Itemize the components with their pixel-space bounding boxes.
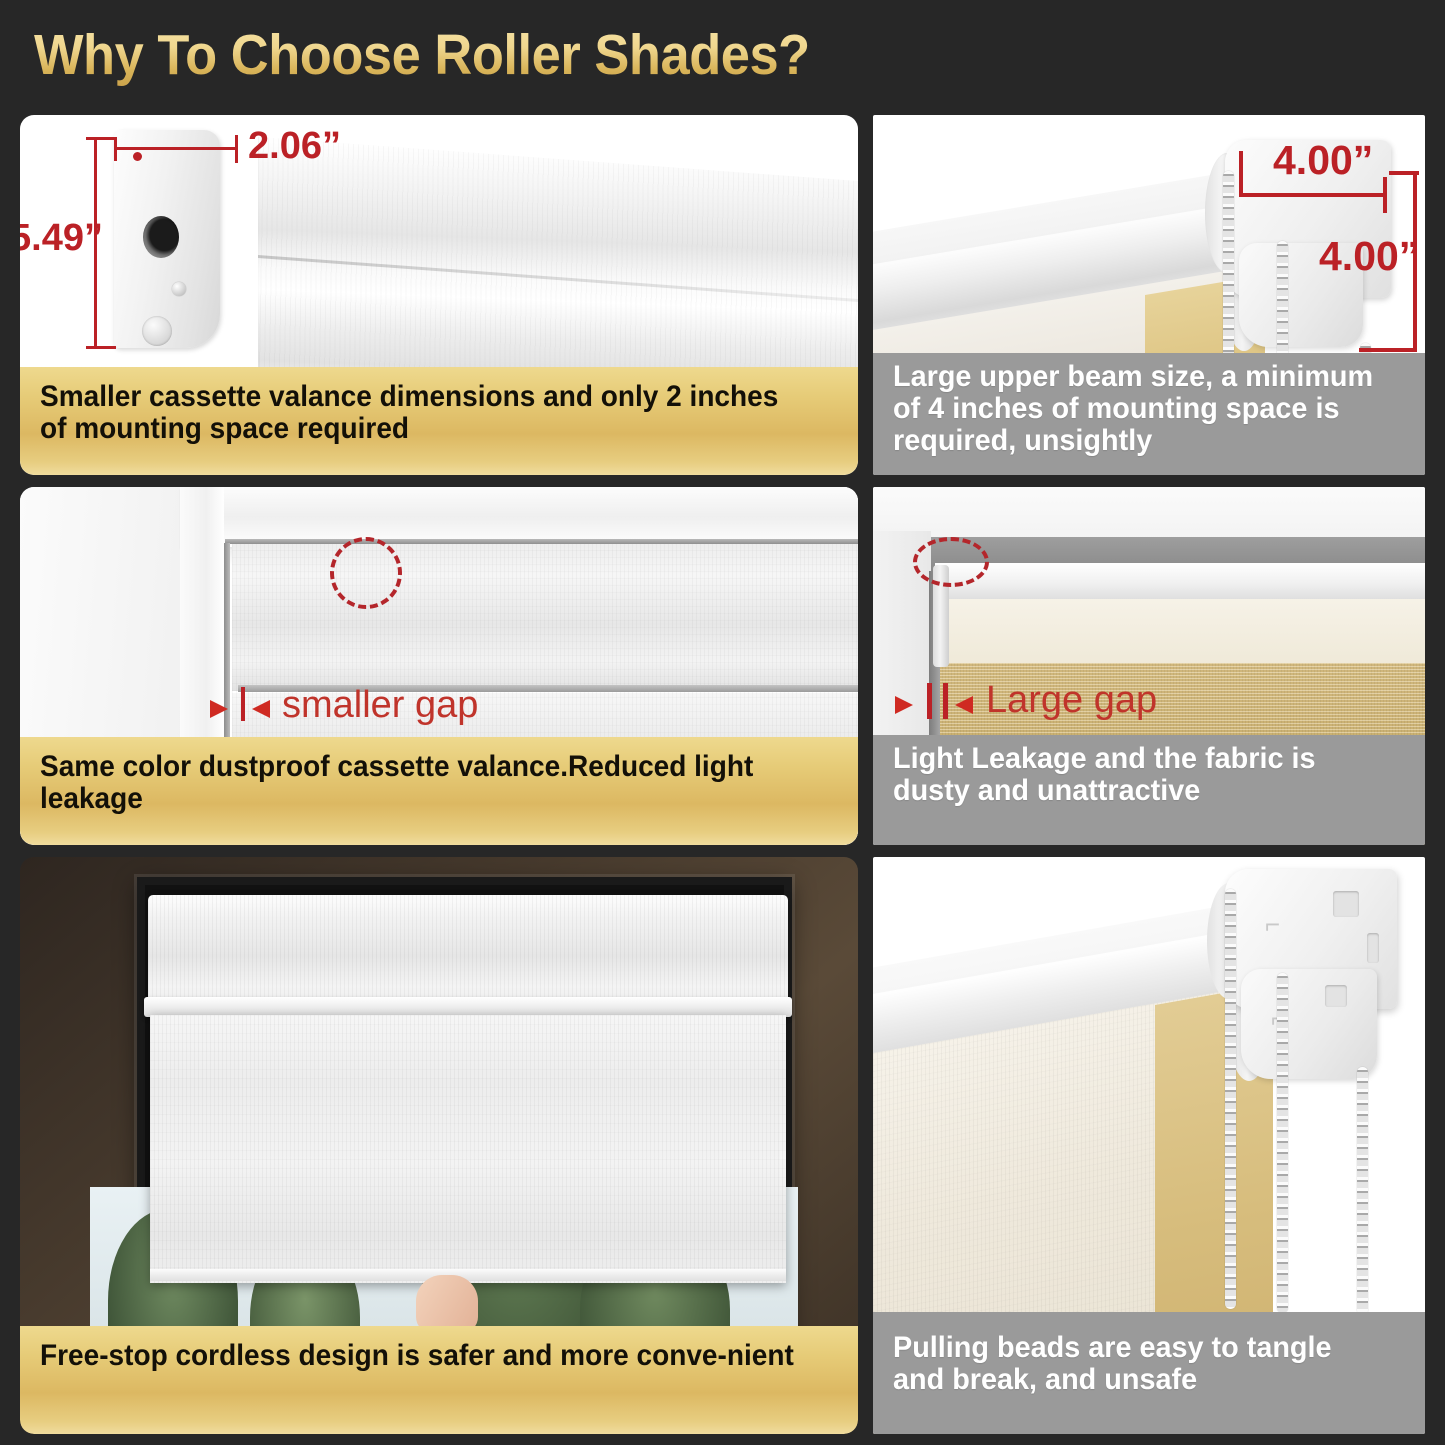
comparison-grid: 2.06” 5.49” Smaller cassette valance dim… bbox=[0, 0, 1445, 1445]
panel-dustproof-cassette-valance: smaller gap Same color dustproof cassett… bbox=[20, 487, 858, 845]
caption-pulling-beads-tangle: Pulling beads are easy to tangle and bre… bbox=[873, 1324, 1425, 1434]
width-dim-tick-left bbox=[114, 137, 117, 161]
bead-chain-1 bbox=[1225, 889, 1236, 1309]
beam-height-dimension-label: 4.00” bbox=[1319, 233, 1419, 280]
beam-width-tick-left bbox=[1239, 151, 1243, 197]
bracket-slot-2 bbox=[1367, 933, 1379, 963]
caption-cassette-valance-dimensions: Smaller cassette valance dimensions and … bbox=[20, 367, 858, 475]
shade-fabric-texture bbox=[150, 1015, 786, 1283]
width-dim-line bbox=[114, 147, 238, 150]
caption-free-stop-cordless-design: Free-stop cordless design is safer and m… bbox=[20, 1326, 858, 1434]
height-dim-tick-bottom bbox=[86, 346, 116, 349]
beam-height-tick-top bbox=[1389, 171, 1419, 175]
highlight-circle-icon bbox=[330, 537, 402, 609]
width-dimension-label: 2.06” bbox=[248, 125, 341, 168]
valance-rail-top bbox=[225, 539, 858, 544]
panel-large-upper-beam: 4.00” 4.00” Large upper beam size, a min… bbox=[873, 115, 1425, 475]
ceiling-surface bbox=[873, 487, 1425, 539]
beam-width-dim-line bbox=[1241, 193, 1387, 197]
cassette-valance-texture bbox=[148, 895, 788, 1013]
screw-upper bbox=[172, 282, 186, 296]
highlight-circle-icon bbox=[913, 537, 989, 587]
caption-dustproof-cassette-valance: Same color dustproof cassette valance.Re… bbox=[20, 737, 858, 845]
gap-arrow-left-pointer-icon bbox=[895, 696, 913, 714]
beam-width-dimension-label: 4.00” bbox=[1273, 137, 1373, 184]
bead-chain-2 bbox=[1277, 973, 1288, 1313]
beam-height-tick-bottom bbox=[1359, 348, 1417, 352]
gap-marker-line-b bbox=[943, 683, 948, 719]
panel-cassette-valance-dimensions: 2.06” 5.49” Smaller cassette valance dim… bbox=[20, 115, 858, 475]
window-casing-top bbox=[180, 487, 858, 547]
panel-pulling-beads-tangle: ⌐ ⌐ Pulling beads are easy to tangle and… bbox=[873, 857, 1425, 1434]
valance-end-cap bbox=[114, 130, 220, 348]
bracket-slot-1 bbox=[1333, 891, 1359, 917]
gap-arrow-right-pointer-icon bbox=[955, 696, 973, 714]
caption-large-upper-beam: Large upper beam size, a minimum of 4 in… bbox=[873, 353, 1425, 475]
gap-arrow-right-pointer-icon bbox=[252, 700, 270, 718]
bracket-arrow-icon: ⌐ bbox=[1265, 909, 1280, 940]
fabric-cream-band bbox=[937, 599, 1425, 667]
panel-free-stop-cordless-design: Free-stop cordless design is safer and m… bbox=[20, 857, 858, 1434]
smaller-gap-label: smaller gap bbox=[282, 684, 478, 727]
shade-bottom-bar bbox=[150, 1269, 786, 1281]
bead-chain-3 bbox=[1357, 1067, 1368, 1315]
height-dim-tick-top bbox=[86, 137, 116, 140]
valance-lip bbox=[144, 997, 792, 1017]
panel-light-leakage-dusty-fabric: Large gap Light Leakage and the fabric i… bbox=[873, 487, 1425, 845]
bracket-slot-3 bbox=[1325, 985, 1347, 1007]
caption-light-leakage-dusty-fabric: Light Leakage and the fabric is dusty an… bbox=[873, 735, 1425, 845]
large-gap-label: Large gap bbox=[986, 679, 1157, 722]
gap-marker-line-a bbox=[927, 683, 932, 719]
height-dimension-label: 5.49” bbox=[20, 217, 103, 260]
floor-strip bbox=[873, 1312, 1425, 1324]
screw-lower bbox=[142, 316, 172, 346]
bead-bracket-lower: ⌐ bbox=[1241, 969, 1377, 1079]
gap-arrow-left-pointer-icon bbox=[210, 700, 228, 718]
width-dim-tick-right bbox=[235, 135, 238, 163]
gap-marker-line bbox=[241, 687, 245, 721]
hand-grip bbox=[416, 1275, 478, 1333]
mount-point-dot bbox=[133, 152, 142, 161]
beam-width-tick-right bbox=[1383, 177, 1387, 213]
